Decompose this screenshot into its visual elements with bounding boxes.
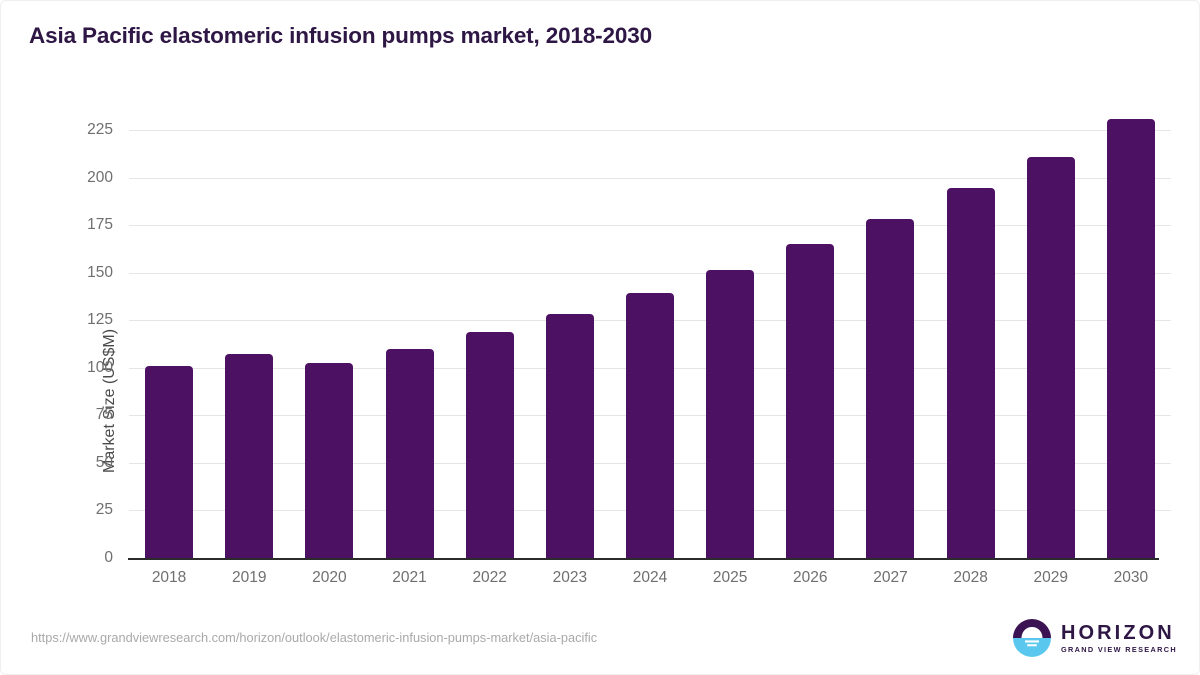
bar[interactable] (1107, 119, 1155, 558)
x-tick-label: 2025 (690, 569, 770, 587)
y-tick-label: 225 (23, 121, 113, 139)
horizon-logo-text: HORIZON GRAND VIEW RESEARCH (1061, 623, 1177, 653)
bar[interactable] (786, 244, 834, 558)
x-tick-label: 2026 (770, 569, 850, 587)
x-tick-label: 2028 (931, 569, 1011, 587)
x-tick-label: 2018 (129, 569, 209, 587)
y-tick-label: 25 (23, 501, 113, 519)
x-tick-label: 2019 (209, 569, 289, 587)
x-tick-label: 2021 (370, 569, 450, 587)
bar[interactable] (145, 366, 193, 558)
y-axis-title: Market Size (US$M) (101, 329, 119, 473)
y-tick-label: 75 (23, 406, 113, 424)
bar[interactable] (706, 270, 754, 558)
horizon-logo[interactable]: HORIZON GRAND VIEW RESEARCH (1012, 616, 1177, 660)
x-tick-label: 2020 (289, 569, 369, 587)
x-tick-label: 2029 (1011, 569, 1091, 587)
bar[interactable] (225, 354, 273, 558)
x-tick-label: 2027 (850, 569, 930, 587)
x-tick-label: 2024 (610, 569, 690, 587)
x-tick-label: 2022 (450, 569, 530, 587)
x-tick-label: 2030 (1091, 569, 1171, 587)
logo-tagline: GRAND VIEW RESEARCH (1061, 646, 1177, 653)
bar[interactable] (626, 293, 674, 558)
y-tick-label: 125 (23, 311, 113, 329)
y-tick-label: 0 (23, 549, 113, 567)
bar[interactable] (305, 363, 353, 558)
y-tick-label: 200 (23, 169, 113, 187)
bar[interactable] (866, 219, 914, 558)
source-url[interactable]: https://www.grandviewresearch.com/horizo… (31, 630, 597, 645)
horizon-logo-icon (1012, 618, 1052, 658)
x-tick-label: 2023 (530, 569, 610, 587)
bar-series (129, 130, 1171, 558)
y-tick-label: 50 (23, 454, 113, 472)
bar[interactable] (546, 314, 594, 558)
bar[interactable] (947, 188, 995, 558)
x-axis-line (128, 558, 1159, 560)
bar[interactable] (1027, 157, 1075, 558)
y-tick-label: 100 (23, 359, 113, 377)
bar[interactable] (466, 332, 514, 558)
y-tick-label: 150 (23, 264, 113, 282)
logo-wordmark: HORIZON (1061, 623, 1177, 643)
chart-page: Asia Pacific elastomeric infusion pumps … (0, 0, 1200, 675)
page-title: Asia Pacific elastomeric infusion pumps … (29, 23, 652, 49)
y-tick-label: 175 (23, 216, 113, 234)
bar[interactable] (386, 349, 434, 558)
x-axis-ticks: 2018201920202021202220232024202520262027… (129, 569, 1171, 599)
